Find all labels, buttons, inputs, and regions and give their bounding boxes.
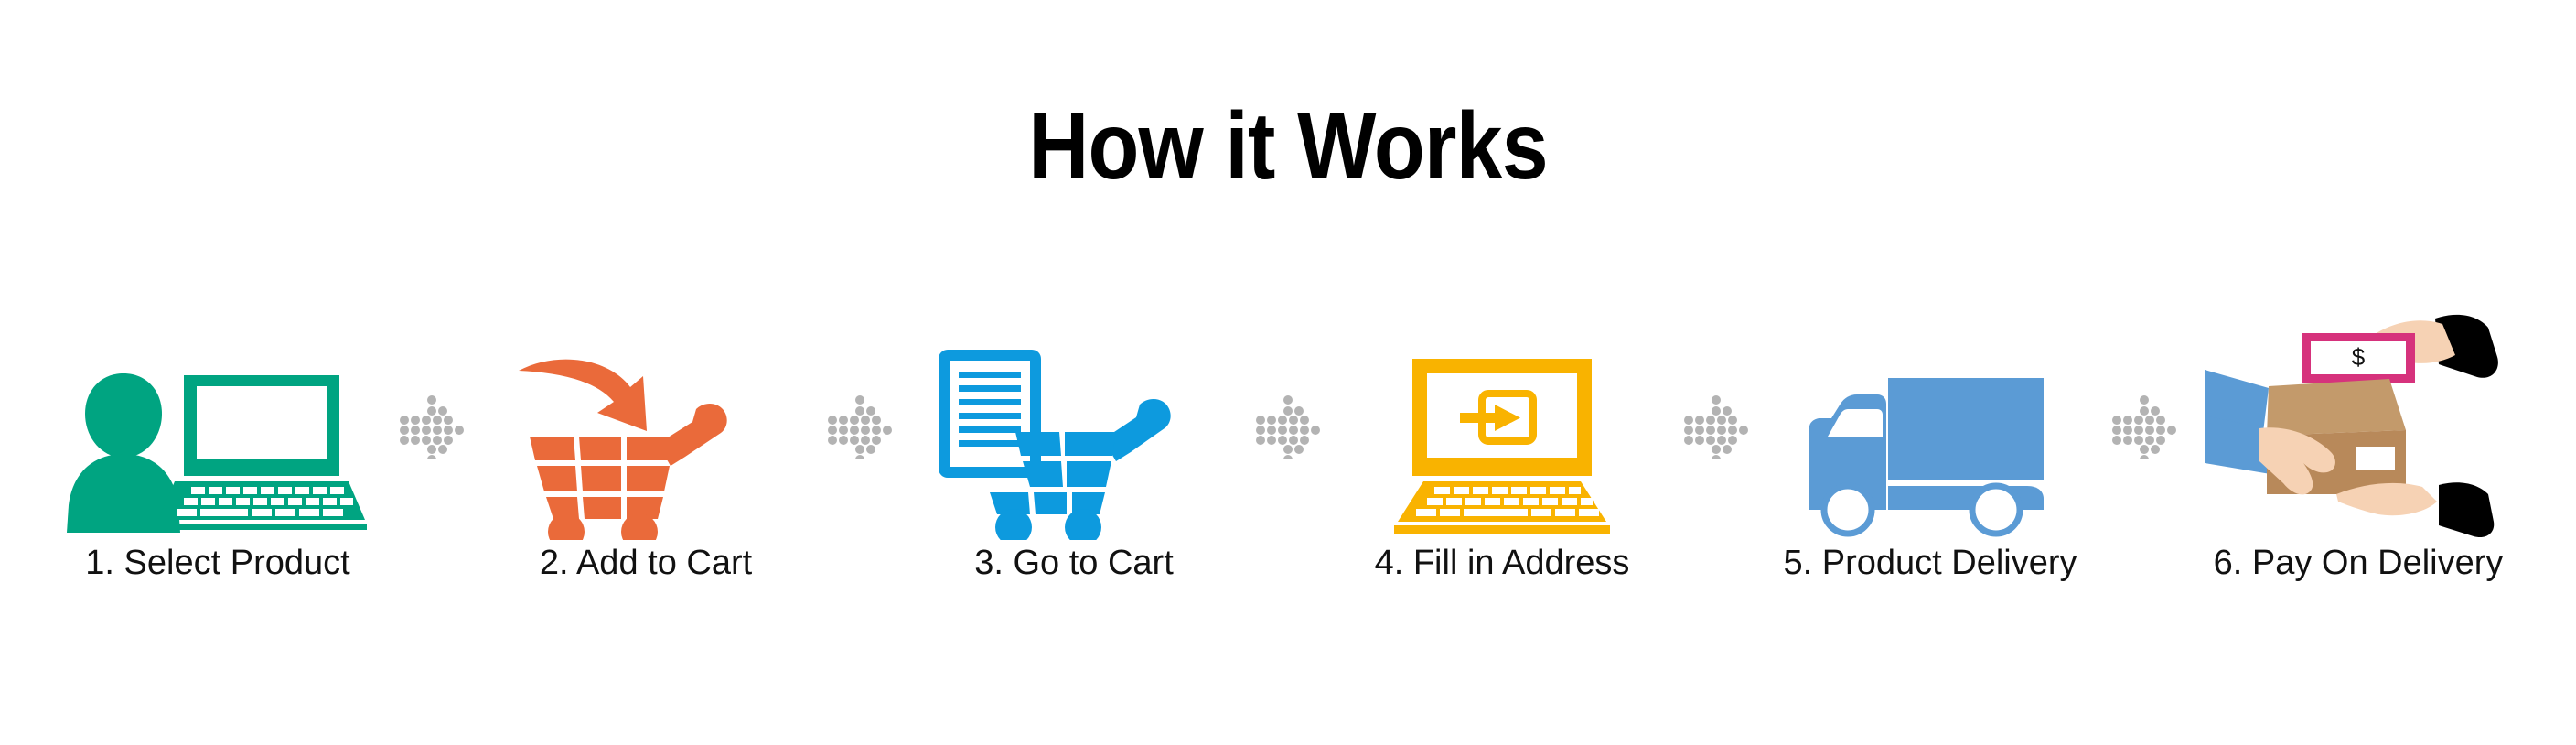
separator-arrow-1 (392, 311, 472, 540)
person-at-laptop-icon (67, 366, 369, 540)
dotted-arrow-right-icon (1683, 393, 1749, 459)
step-1-artwork (44, 311, 392, 540)
dotted-arrow-right-icon (2111, 393, 2177, 459)
step-4-label: 4. Fill in Address (1328, 542, 1676, 584)
how-it-works-infographic: How it Works (0, 0, 2576, 745)
laptop-login-form-icon (1365, 357, 1639, 540)
step-6-pay-on-delivery[interactable]: $ 6. Pay (2184, 311, 2532, 604)
step-1-select-product[interactable]: 1. Select Product (44, 311, 392, 604)
step-3-artwork (900, 311, 1248, 540)
delivery-truck-icon (1793, 371, 2067, 540)
step-6-artwork: $ (2184, 311, 2532, 540)
dotted-arrow-right-icon (1255, 393, 1321, 459)
step-3-label: 3. Go to Cart (900, 542, 1248, 584)
hands-exchange-box-and-cash-icon: $ (2203, 313, 2514, 540)
step-2-artwork (472, 311, 820, 540)
dotted-arrow-right-icon (399, 393, 465, 459)
step-6-label: 6. Pay On Delivery (2184, 542, 2532, 584)
step-1-label: 1. Select Product (44, 542, 392, 584)
box-shipping-label (2356, 447, 2395, 470)
step-2-label: 2. Add to Cart (472, 542, 820, 584)
step-5-product-delivery[interactable]: 5. Product Delivery (1756, 311, 2104, 604)
step-4-artwork (1328, 311, 1676, 540)
separator-arrow-3 (1248, 311, 1328, 540)
step-2-add-to-cart[interactable]: 2. Add to Cart (472, 311, 820, 604)
step-5-artwork (1756, 311, 2104, 540)
cart-with-arrow-icon (513, 352, 778, 540)
step-3-go-to-cart[interactable]: 3. Go to Cart (900, 311, 1248, 604)
separator-arrow-5 (2104, 311, 2184, 540)
steps-row: 1. Select Product (0, 311, 2576, 604)
step-4-fill-in-address[interactable]: 4. Fill in Address (1328, 311, 1676, 604)
dotted-arrow-right-icon (827, 393, 893, 459)
separator-arrow-4 (1676, 311, 1756, 540)
separator-arrow-2 (820, 311, 900, 540)
banknote-dollar-symbol: $ (2352, 343, 2366, 371)
document-and-cart-icon (937, 348, 1211, 540)
page-title: How it Works (155, 99, 2421, 194)
step-5-label: 5. Product Delivery (1756, 542, 2104, 584)
